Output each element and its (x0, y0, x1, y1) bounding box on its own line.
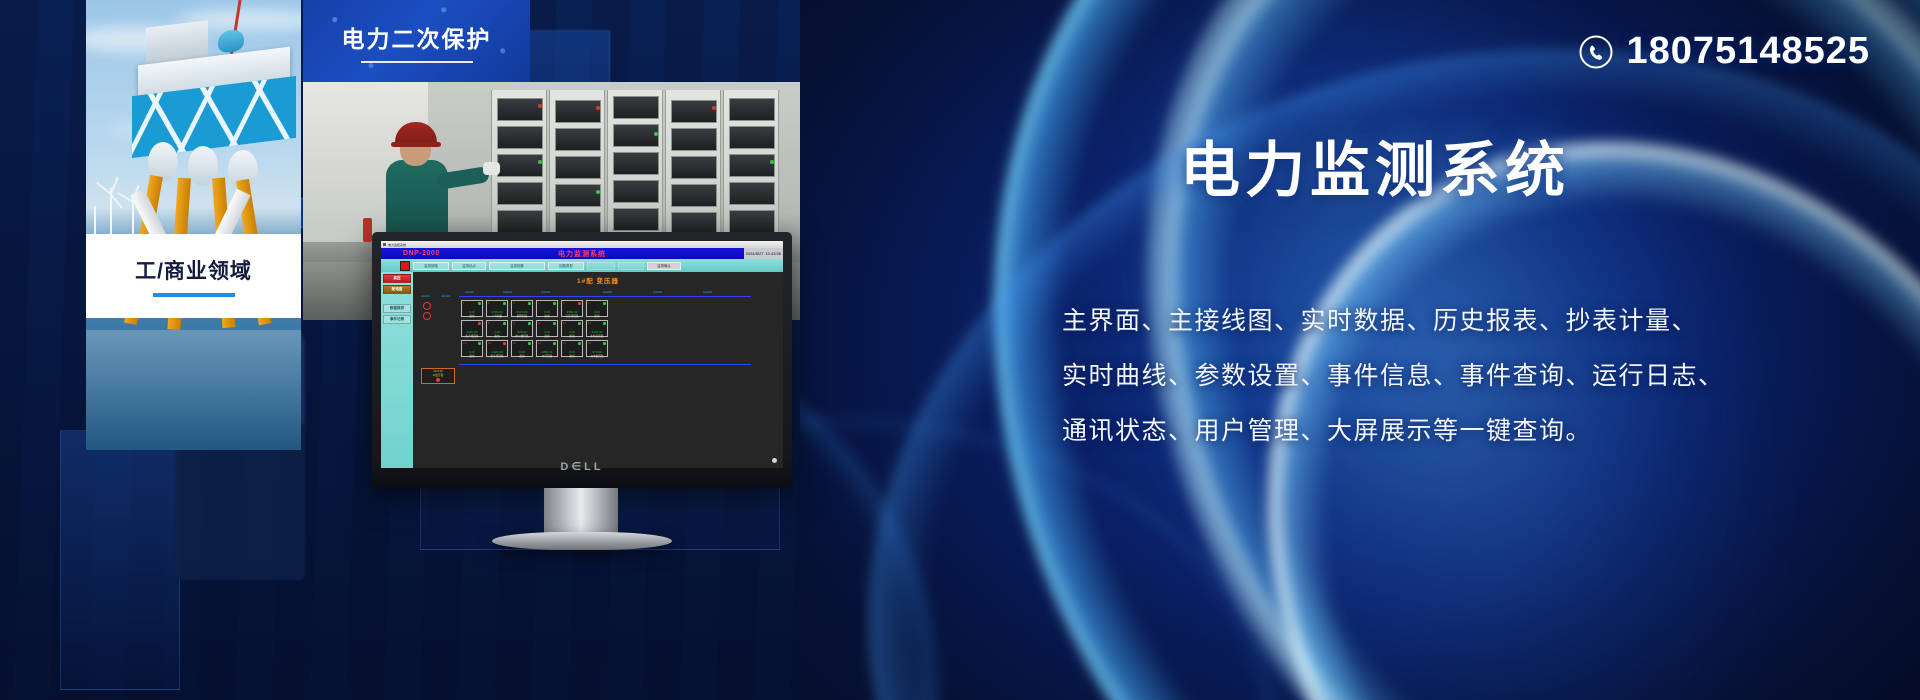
transformer-status-led (436, 378, 440, 382)
monitor-bezel: 电力监控系统 DNP-2000 电力监测系统 2024/8/27 10:43:5… (372, 232, 792, 488)
feeder-name: 生产线回路 (462, 334, 482, 338)
feeder-cell[interactable]: 110.00备用 (561, 320, 583, 337)
feeder-led (528, 322, 531, 325)
label-card-underline (361, 61, 473, 63)
feeder-name: 水泵房回路 (587, 334, 607, 338)
feeder-name: 办公楼回路 (512, 334, 532, 338)
feeder-led (553, 342, 556, 345)
bus-label: AA103 (503, 290, 512, 294)
toolbar-button[interactable]: 回路类型 (548, 262, 584, 270)
bus-label: AA203 (703, 290, 712, 294)
phone-number[interactable]: 18075148525 (1627, 30, 1870, 73)
monitor-screen: 电力监控系统 DNP-2000 电力监测系统 2024/8/27 10:43:5… (381, 241, 783, 468)
feeder-tag: 16 (538, 342, 541, 345)
feeder-name: 备用 (587, 314, 607, 318)
feeder-led (603, 342, 606, 345)
feeder-tag: 17 (563, 342, 566, 345)
label-card-protection: 电力二次保护 (303, 0, 530, 82)
feeder-tag: 4 (538, 302, 539, 305)
feeder-name: 照明回路 (512, 314, 532, 318)
scada-application: 电力监控系统 DNP-2000 电力监测系统 2024/8/27 10:43:5… (381, 241, 783, 468)
transformer-symbol (423, 312, 431, 320)
feeder-name: 备用 (487, 334, 507, 338)
feeder-led (553, 322, 556, 325)
feeder-cell[interactable]: 100.00备用 (536, 320, 558, 337)
feeder-cell[interactable]: 80.00备用 (486, 320, 508, 337)
feeder-cell[interactable]: 170.00备用 (561, 340, 583, 357)
transformer-symbol (423, 302, 431, 310)
scada-clock: 2024/8/27 10:43:56 (744, 248, 783, 259)
scada-logo: DNP-2000 (403, 250, 440, 257)
sidebar-item-high-voltage[interactable]: 高压 (383, 274, 411, 283)
backdrop-panel (60, 430, 180, 690)
scada-toolbar: 监测回路 监测站点 监测回集 回路类型 监测确认 (381, 259, 783, 272)
caption-card-commercial: 工/商业领域 (86, 234, 301, 318)
feeder-cell[interactable]: 10.00备用 (461, 300, 483, 317)
monitor-stand-neck (544, 488, 618, 536)
bus-label: AA102 (541, 290, 550, 294)
feeder-name: 备用 (512, 354, 532, 358)
toolbar-button[interactable]: 监测回集 (489, 262, 545, 270)
feeder-name: 备用 (462, 354, 482, 358)
scada-header: DNP-2000 电力监测系统 2024/8/27 10:43:56 (381, 248, 783, 259)
offshore-platform-photo (86, 0, 301, 450)
feeder-cell[interactable]: 9860.00办公楼回路 (511, 320, 533, 337)
busbar (459, 364, 751, 365)
description-line: 实时曲线、参数设置、事件信息、事件查询、运行日志、 (1062, 349, 1862, 404)
feeder-led (478, 322, 481, 325)
diagram-title: 1#配 变压器 (413, 275, 783, 285)
feeder-tag: 2 (488, 302, 489, 305)
scada-sidebar: 高压 配电室 数据报表 事件记录 (381, 272, 413, 468)
feeder-led (578, 322, 581, 325)
scada-system-name: 电力监测系统 (558, 249, 606, 259)
feeder-tag: 8 (488, 322, 489, 325)
feeder-led (578, 342, 581, 345)
scada-date: 2024/8/27 (746, 251, 764, 256)
feeder-cell[interactable]: 18970.00充电桩回路 (586, 340, 608, 357)
feeder-led (478, 342, 481, 345)
bus-label: AA205 (603, 290, 612, 294)
contact-row[interactable]: 18075148525 (1579, 30, 1870, 73)
feeder-name: 备用 (562, 354, 582, 358)
caption-underline (153, 293, 235, 297)
platform-tank (218, 28, 244, 53)
feeder-name: 车间回路 (537, 354, 557, 358)
feeder-tag: 1 (463, 302, 464, 305)
feeder-tag: 7 (463, 322, 464, 325)
monitor-display: 电力监控系统 DNP-2000 电力监测系统 2024/8/27 10:43:5… (372, 232, 802, 552)
toolbar-button[interactable]: 监测确认 (647, 262, 681, 270)
feeder-cell[interactable]: 130.00备用 (461, 340, 483, 357)
feature-description: 主界面、主接线图、实时数据、历史报表、抄表计量、 实时曲线、参数设置、事件信息、… (1062, 294, 1862, 459)
feeder-led (503, 342, 506, 345)
sidebar-item-distribution-room[interactable]: 配电室 (383, 285, 411, 294)
feeder-led (553, 302, 556, 305)
monitor-stand-base (492, 532, 672, 550)
feeder-led (478, 302, 481, 305)
technician-glove (483, 162, 500, 175)
feeder-tag: 3 (513, 302, 514, 305)
feeder-cell[interactable]: 141420.00制冷机回路 (486, 340, 508, 357)
feeder-name: 制冷机回路 (487, 354, 507, 358)
description-line: 主界面、主接线图、实时数据、历史报表、抄表计量、 (1062, 294, 1862, 349)
monitor-brand-logo: D∈LL (372, 460, 792, 473)
caption-card-label: 工/商业领域 (135, 255, 252, 285)
bus-label: AC101 (441, 294, 450, 298)
feeder-name: 备用 (562, 334, 582, 338)
bus-label: AA102 (465, 290, 474, 294)
feeder-name: 充电桩回路 (587, 354, 607, 358)
scada-body: 高压 配电室 数据报表 事件记录 1#配 变压器 AA101 AC101 (381, 272, 783, 468)
feeder-cell[interactable]: 150.00备用 (511, 340, 533, 357)
feeder-name: 备用 (462, 314, 482, 318)
feeder-grid: 10.00备用 22730.00一号机组 36472.00照明回路 40.00备… (461, 300, 608, 357)
feeder-tag: 10 (538, 322, 541, 325)
safety-helmet-brim (391, 142, 441, 147)
promo-banner: 工/商业领域 电力二次保护 (0, 0, 1920, 700)
page-title: 电力监测系统 (1180, 122, 1570, 209)
scada-diagram-area: 1#配 变压器 AA101 AC101 AA102 AA103 AA102 AA… (413, 272, 783, 468)
toolbar-button[interactable]: 监测站点 (452, 262, 486, 270)
feeder-led (503, 302, 506, 305)
feeder-tag: 6 (588, 302, 589, 305)
scada-time: 10:43:56 (765, 251, 781, 256)
feeder-tag: 5 (563, 302, 564, 305)
water-reflection (86, 330, 301, 450)
feeder-tag: 11 (563, 322, 566, 325)
feeder-led (603, 322, 606, 325)
feeder-cell[interactable]: 40.00备用 (536, 300, 558, 317)
label-card-title: 电力二次保护 (342, 20, 492, 54)
feeder-name: 备用 (537, 334, 557, 338)
scada-window-title: 电力监控系统 (388, 243, 406, 247)
sidebar-item-event-log[interactable]: 事件记录 (383, 315, 411, 324)
bus-label: AA204 (653, 290, 662, 294)
transformer-box[interactable]: 1272.00 2#变压器 (421, 368, 455, 384)
busbar (459, 296, 751, 297)
feeder-cell[interactable]: 36472.00照明回路 (511, 300, 533, 317)
feeder-tag: 14 (488, 342, 491, 345)
feeder-led (578, 302, 581, 305)
feeder-cell[interactable]: 123120.00水泵房回路 (586, 320, 608, 337)
feeder-led (603, 302, 606, 305)
phone-circle-icon (1579, 35, 1613, 69)
feeder-led (528, 342, 531, 345)
toolbar-button[interactable] (587, 262, 615, 270)
window-icon (383, 243, 386, 246)
feeder-name: 空压机回路 (562, 314, 582, 318)
feeder-tag: 13 (463, 342, 466, 345)
feeder-cell[interactable]: 162280.00车间回路 (536, 340, 558, 357)
toolbar-button[interactable]: 监测回路 (413, 262, 449, 270)
feeder-cell[interactable]: 51590.00空压机回路 (561, 300, 583, 317)
feeder-name: 一号机组 (487, 314, 507, 318)
feeder-cell[interactable]: 22730.00一号机组 (486, 300, 508, 317)
feeder-tag: 18 (588, 342, 591, 345)
toolbar-button[interactable] (618, 262, 644, 270)
feeder-tag: 12 (588, 322, 591, 325)
bus-label: AA101 (421, 294, 430, 298)
feeder-name: 备用 (537, 314, 557, 318)
feeder-cell[interactable]: 60.00备用 (586, 300, 608, 317)
alarm-indicator-button[interactable] (400, 261, 410, 271)
feeder-tag: 9 (513, 322, 514, 325)
banner-content: 18075148525 电力监测系统 主界面、主接线图、实时数据、历史报表、抄表… (1060, 0, 1920, 700)
feeder-tag: 15 (513, 342, 516, 345)
scada-window-titlebar: 电力监控系统 (381, 241, 783, 248)
transformer-label: 2#变压器 (423, 373, 453, 377)
feeder-led (528, 302, 531, 305)
sidebar-item-data-report[interactable]: 数据报表 (383, 304, 411, 313)
feeder-cell[interactable]: 72440.00生产线回路 (461, 320, 483, 337)
fire-extinguisher (363, 218, 372, 242)
description-line: 通讯状态、用户管理、大屏展示等一键查询。 (1062, 404, 1862, 459)
feeder-led (503, 322, 506, 325)
